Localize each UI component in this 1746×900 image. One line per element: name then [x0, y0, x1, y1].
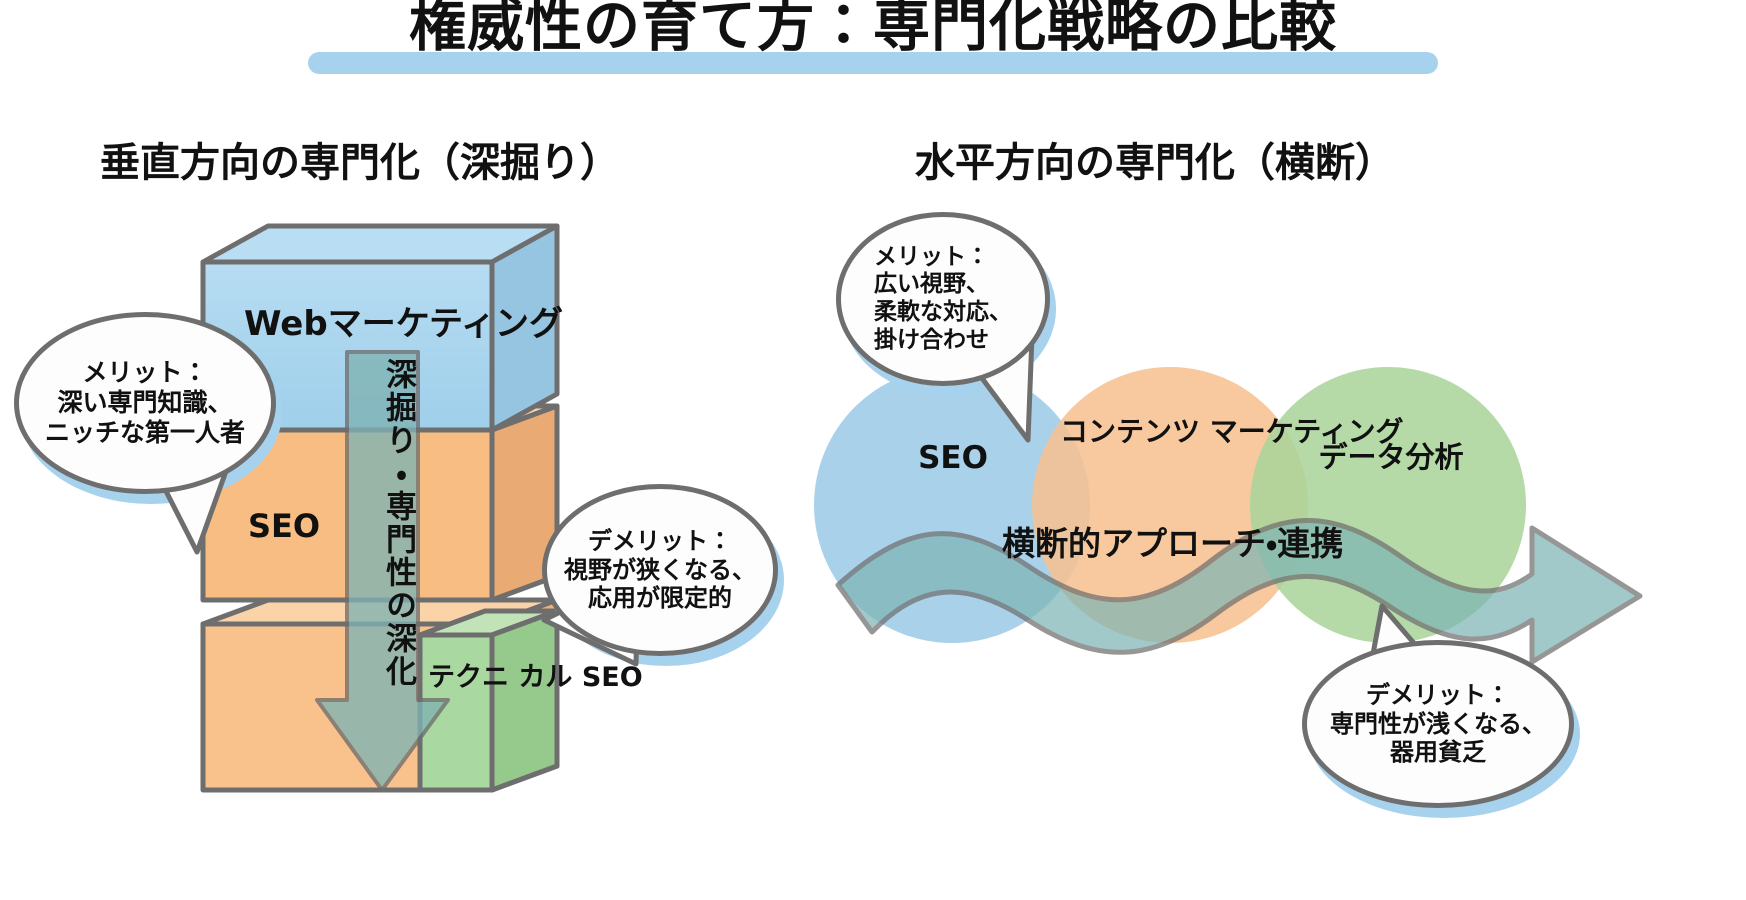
merit-bubble-vertical: メリット： 深い専門知識、 ニッチな第一人者 [14, 312, 276, 494]
venn-label-data-analysis: データ分析 [1306, 440, 1476, 474]
demerit-line-2: 視野が狭くなる、 [564, 556, 756, 585]
merit-line-1: メリット： [45, 358, 245, 388]
demerit-bubble-vertical: デメリット： 視野が狭くなる、 応用が限定的 [542, 484, 778, 656]
horizontal-specialization-panel: SEO コンテンツ マーケティング データ分析 横断的アプローチ・連携 メリット… [760, 0, 1746, 900]
demerit-bubble-horizontal: デメリット： 専門性が浅くなる、 器用貧乏 [1302, 640, 1574, 808]
vertical-specialization-panel: Webマーケティング SEO テクニ カル SEO 深掘り・専門性の深化 メリッ… [0, 0, 760, 900]
merit-right-line-2: 広い視野、 [874, 271, 1012, 299]
merit-line-2: 深い専門知識、 [45, 388, 245, 418]
infographic-canvas: 権威性の育て方：専門化戦略の比較 垂直方向の専門化（深掘り） 水平方向の専門化（… [0, 0, 1746, 900]
demerit-right-line-3: 器用貧乏 [1330, 738, 1546, 767]
demerit-right-line-2: 専門性が浅くなる、 [1330, 710, 1546, 739]
merit-line-3: ニッチな第一人者 [45, 418, 245, 448]
merit-right-line-4: 掛け合わせ [874, 327, 1012, 355]
venn-label-content-marketing: コンテンツ マーケティング [1060, 415, 1280, 448]
demerit-right-line-1: デメリット： [1330, 681, 1546, 710]
merit-right-line-1: メリット： [874, 244, 1012, 272]
merit-right-line-3: 柔軟な対応、 [874, 299, 1012, 327]
demerit-line-3: 応用が限定的 [564, 584, 756, 613]
deep-dive-arrow-label: 深掘り・専門性の深化 [352, 358, 414, 688]
cross-approach-label: 横断的アプローチ・連携 [1002, 517, 1343, 565]
merit-bubble-horizontal: メリット： 広い視野、 柔軟な対応、 掛け合わせ [836, 212, 1050, 386]
demerit-line-1: デメリット： [564, 527, 756, 556]
